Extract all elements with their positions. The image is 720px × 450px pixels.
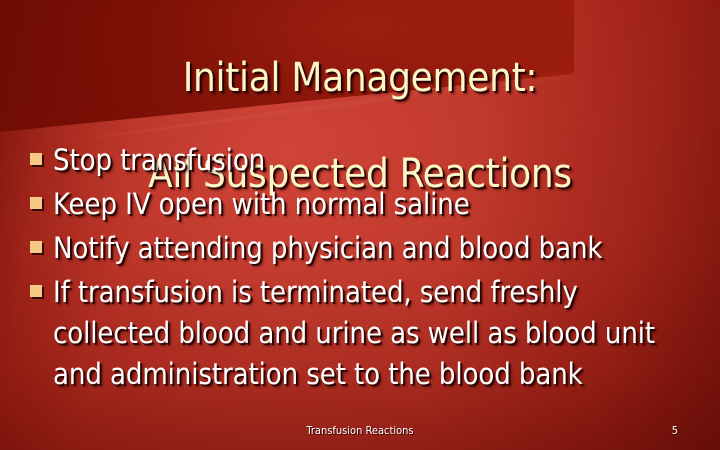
square-bullet-icon bbox=[30, 197, 42, 209]
square-bullet-icon bbox=[30, 241, 42, 253]
list-item: Keep IV open with normal saline bbox=[30, 184, 698, 225]
slide-bullet-list: Stop transfusion Keep IV open with norma… bbox=[30, 140, 698, 398]
square-bullet-icon bbox=[30, 153, 42, 165]
slide-title-line-1: Initial Management: bbox=[0, 54, 720, 102]
list-item: Notify attending physician and blood ban… bbox=[30, 228, 698, 269]
bullet-text: If transfusion is terminated, send fresh… bbox=[53, 272, 698, 395]
bullet-text: Keep IV open with normal saline bbox=[53, 184, 698, 225]
list-item: If transfusion is terminated, send fresh… bbox=[30, 272, 698, 395]
bullet-text: Notify attending physician and blood ban… bbox=[53, 228, 698, 269]
slide-canvas: Initial Management: All Suspected Reacti… bbox=[0, 0, 720, 450]
list-item: Stop transfusion bbox=[30, 140, 698, 181]
square-bullet-icon bbox=[30, 285, 42, 297]
footer-deck-title: Transfusion Reactions bbox=[180, 424, 540, 438]
footer-page-number: 5 bbox=[672, 424, 678, 438]
bullet-text: Stop transfusion bbox=[53, 140, 698, 181]
